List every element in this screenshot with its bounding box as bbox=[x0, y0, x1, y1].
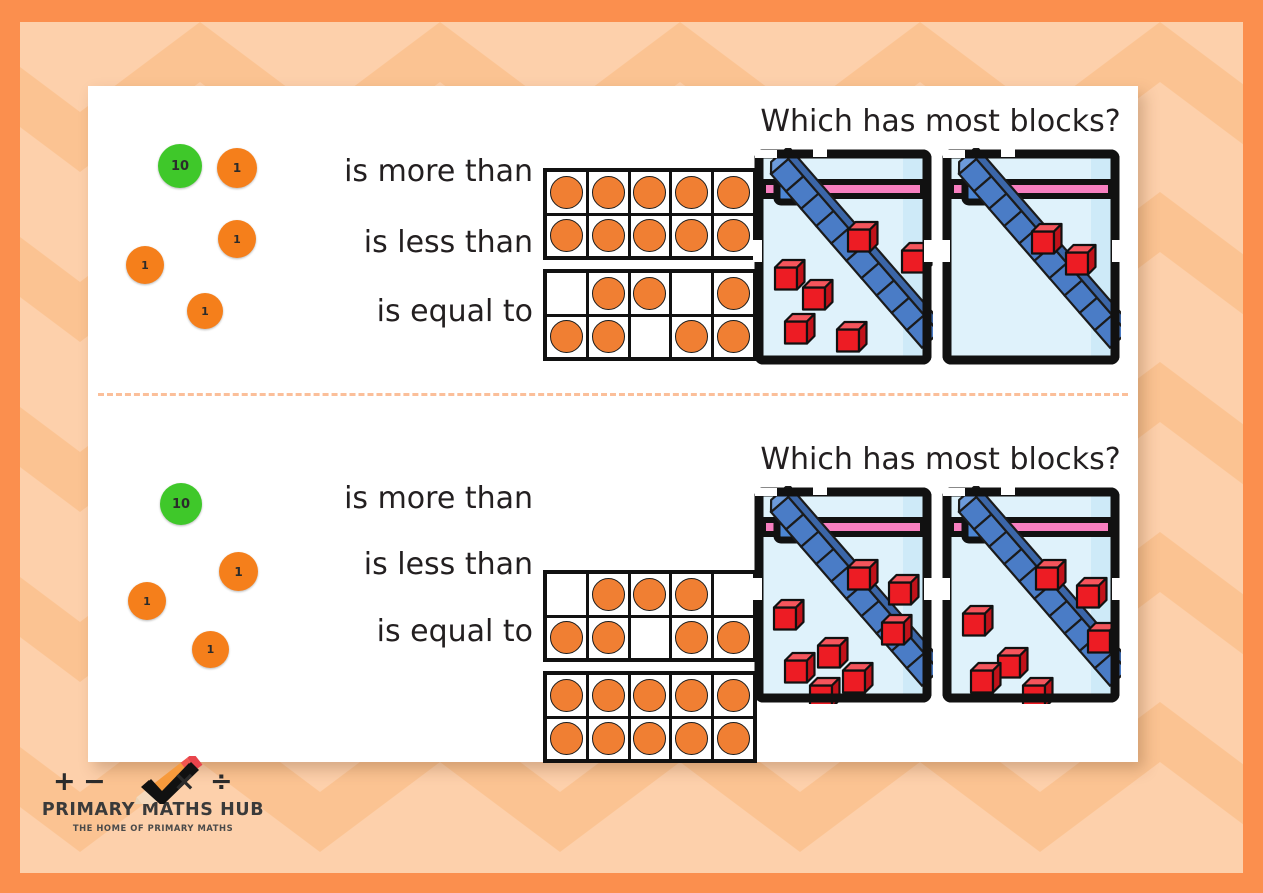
ten-frame-cell-empty[interactable] bbox=[672, 273, 711, 314]
comparison-phrase: is more than bbox=[344, 481, 533, 516]
ten-frame-cell-filled[interactable] bbox=[631, 216, 670, 257]
blocks-question-area: Which has most blocks? bbox=[743, 86, 1138, 424]
ten-frame-cell-filled[interactable] bbox=[589, 317, 628, 358]
ten-frame-lower bbox=[543, 671, 757, 763]
place-value-counter-1[interactable]: 1 bbox=[218, 220, 256, 258]
unit-cube-icon bbox=[785, 314, 814, 343]
ten-frame-cell-filled[interactable] bbox=[672, 317, 711, 358]
ten-frame-cell-filled[interactable] bbox=[672, 216, 711, 257]
counter-dot-icon bbox=[550, 320, 583, 353]
bag-left[interactable] bbox=[753, 486, 933, 704]
minus-icon: − bbox=[83, 768, 106, 795]
place-value-counter-1[interactable]: 1 bbox=[187, 293, 223, 329]
comparison-phrases: is more thanis less thanis equal to bbox=[268, 86, 533, 424]
ten-frame-cell-filled[interactable] bbox=[631, 675, 670, 716]
unit-cube-icon bbox=[882, 615, 911, 644]
place-value-counter-10[interactable]: 10 bbox=[158, 144, 202, 188]
ten-frame-cell-filled[interactable] bbox=[589, 675, 628, 716]
unit-cube-icon bbox=[837, 322, 866, 351]
counter-dot-icon bbox=[675, 176, 708, 209]
counter-dot-icon bbox=[675, 320, 708, 353]
bags-row bbox=[753, 148, 1121, 366]
unit-cube-icon bbox=[785, 653, 814, 682]
counter-dot-icon bbox=[633, 578, 666, 611]
unit-cube-icon bbox=[848, 560, 877, 589]
ten-frame-cell-filled[interactable] bbox=[672, 719, 711, 760]
worksheet-card: 101111 is more thanis less thanis equal … bbox=[88, 86, 1138, 762]
multiply-icon: × bbox=[173, 768, 196, 795]
comparison-phrase: is more than bbox=[344, 154, 533, 189]
ten-frame-upper bbox=[543, 168, 757, 260]
comparison-phrase: is less than bbox=[364, 225, 533, 260]
ten-frame-cell-empty[interactable] bbox=[631, 618, 670, 659]
ten-frame-cell-filled[interactable] bbox=[589, 273, 628, 314]
ten-frames-group bbox=[543, 86, 773, 424]
ten-frame-cell-filled[interactable] bbox=[547, 216, 586, 257]
plus-icon: + bbox=[53, 768, 76, 795]
place-value-counter-10[interactable]: 10 bbox=[160, 483, 202, 525]
counter-dot-icon bbox=[675, 722, 708, 755]
unit-cube-icon bbox=[971, 663, 1000, 692]
bag-right-graphic bbox=[941, 486, 1121, 704]
place-value-counter-1[interactable]: 1 bbox=[126, 246, 164, 284]
worksheet-panel-bottom: 10111 is more thanis less thanis equal t… bbox=[88, 424, 1138, 762]
counter-dot-icon bbox=[592, 578, 625, 611]
ten-frame-lower bbox=[543, 269, 757, 361]
ten-frame-cell-filled[interactable] bbox=[547, 172, 586, 213]
bag-left-graphic bbox=[753, 486, 933, 704]
unit-cube-icon bbox=[998, 648, 1027, 677]
panel-divider bbox=[98, 393, 1128, 396]
site-logo: +−×÷ PRIMARY MATHS HUB THE HOME OF PRIMA… bbox=[38, 760, 268, 840]
unit-cube-icon bbox=[848, 222, 877, 251]
blocks-question-title: Which has most blocks? bbox=[743, 442, 1138, 477]
bag-right-graphic bbox=[941, 148, 1121, 366]
counter-dot-icon bbox=[633, 277, 666, 310]
unit-cube-icon bbox=[1032, 224, 1061, 253]
ten-frame-cell-filled[interactable] bbox=[631, 574, 670, 615]
bag-left[interactable] bbox=[753, 148, 933, 366]
unit-cube-icon bbox=[843, 663, 872, 692]
ten-frame-cell-filled[interactable] bbox=[547, 317, 586, 358]
unit-cube-icon bbox=[963, 606, 992, 635]
ten-frame-cell-empty[interactable] bbox=[631, 317, 670, 358]
place-value-counter-1[interactable]: 1 bbox=[217, 148, 257, 188]
counter-dot-icon bbox=[592, 176, 625, 209]
ten-frame-cell-filled[interactable] bbox=[589, 719, 628, 760]
unit-cube-icon bbox=[1066, 245, 1095, 274]
ten-frame-cell-filled[interactable] bbox=[672, 172, 711, 213]
comparison-phrases: is more thanis less thanis equal to bbox=[268, 424, 533, 762]
counter-dot-icon bbox=[633, 722, 666, 755]
counter-dot-icon bbox=[550, 679, 583, 712]
ten-frame-cell-empty[interactable] bbox=[547, 574, 586, 615]
pencil-tick-icon bbox=[131, 756, 209, 804]
counter-dot-icon bbox=[592, 621, 625, 654]
place-value-counter-1[interactable]: 1 bbox=[219, 552, 258, 591]
unit-cube-icon bbox=[818, 638, 847, 667]
counter-dot-icon bbox=[592, 219, 625, 252]
counter-dot-icon bbox=[550, 722, 583, 755]
worksheet-panel-top: 101111 is more thanis less thanis equal … bbox=[88, 86, 1138, 424]
unit-cube-icon bbox=[1036, 560, 1065, 589]
unit-cube-icon bbox=[775, 260, 804, 289]
counter-dot-icon bbox=[633, 679, 666, 712]
counter-dot-icon bbox=[633, 219, 666, 252]
counter-dot-icon bbox=[550, 621, 583, 654]
ten-frame-cell-filled[interactable] bbox=[547, 618, 586, 659]
ten-frame-cell-filled[interactable] bbox=[631, 172, 670, 213]
ten-frame-cell-empty[interactable] bbox=[547, 273, 586, 314]
counter-dot-icon bbox=[675, 219, 708, 252]
comparison-phrase: is equal to bbox=[377, 294, 533, 329]
ten-frame-upper bbox=[543, 570, 757, 662]
ten-frame-cell-filled[interactable] bbox=[631, 719, 670, 760]
counter-dot-icon bbox=[592, 277, 625, 310]
counter-dot-icon bbox=[633, 176, 666, 209]
ten-frame-cell-filled[interactable] bbox=[589, 216, 628, 257]
unit-cube-icon bbox=[803, 280, 832, 309]
unit-cube-icon bbox=[889, 575, 918, 604]
comparison-phrase: is equal to bbox=[377, 614, 533, 649]
comparison-phrase: is less than bbox=[364, 547, 533, 582]
counter-dot-icon bbox=[550, 219, 583, 252]
blocks-question-area: Which has most blocks? bbox=[743, 424, 1138, 762]
counter-dot-icon bbox=[675, 621, 708, 654]
bag-right[interactable] bbox=[941, 486, 1121, 704]
place-value-counter-1[interactable]: 1 bbox=[192, 631, 229, 668]
ten-frame-cell-filled[interactable] bbox=[672, 675, 711, 716]
ten-frame-cell-filled[interactable] bbox=[589, 172, 628, 213]
unit-cube-icon bbox=[774, 600, 803, 629]
counter-dot-icon bbox=[592, 320, 625, 353]
bags-row bbox=[753, 486, 1121, 704]
bag-right[interactable] bbox=[941, 148, 1121, 366]
ten-frames-group bbox=[543, 424, 773, 762]
ten-frame-cell-filled[interactable] bbox=[672, 574, 711, 615]
bag-left-graphic bbox=[753, 148, 933, 366]
counter-dot-icon bbox=[675, 679, 708, 712]
unit-cube-icon bbox=[1077, 578, 1106, 607]
divide-icon: ÷ bbox=[210, 768, 233, 795]
logo-tagline: THE HOME OF PRIMARY MATHS bbox=[38, 823, 268, 833]
counter-dot-icon bbox=[550, 176, 583, 209]
counter-dot-icon bbox=[675, 578, 708, 611]
logo-symbol-row: +−×÷ bbox=[53, 760, 253, 800]
counter-dot-icon bbox=[592, 722, 625, 755]
ten-frame-cell-filled[interactable] bbox=[547, 675, 586, 716]
ten-frame-cell-filled[interactable] bbox=[547, 719, 586, 760]
ten-frame-cell-filled[interactable] bbox=[589, 574, 628, 615]
ten-frame-cell-filled[interactable] bbox=[589, 618, 628, 659]
blocks-question-title: Which has most blocks? bbox=[743, 104, 1138, 139]
place-value-counter-1[interactable]: 1 bbox=[128, 582, 166, 620]
counter-dot-icon bbox=[592, 679, 625, 712]
ten-frame-cell-filled[interactable] bbox=[631, 273, 670, 314]
ten-frame-cell-filled[interactable] bbox=[672, 618, 711, 659]
